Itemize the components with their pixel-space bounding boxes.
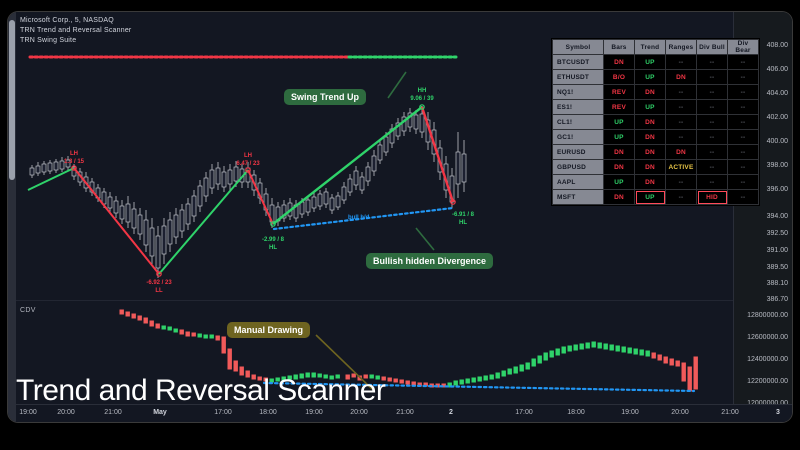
chart-window: Microsoft Corp., 5, NASDAQ TRN Trend and… xyxy=(8,12,792,422)
scanner-header-symbol[interactable]: Symbol xyxy=(553,40,604,55)
time-axis-tick: May xyxy=(153,409,167,416)
scanner-header-row: SymbolBarsTrendRangesDiv BullDiv Bear xyxy=(553,40,759,55)
scanner-cell-ranges[interactable]: DN xyxy=(666,70,697,85)
scanner-cell-ranges[interactable]: -- xyxy=(666,175,697,190)
scanner-cell-div-bull[interactable]: -- xyxy=(697,100,728,115)
scanner-cell-div-bear[interactable]: -- xyxy=(728,55,759,70)
scanner-cell-div-bear[interactable]: -- xyxy=(728,70,759,85)
time-axis-tick: 20:00 xyxy=(57,409,75,416)
scanner-cell-symbol[interactable]: GC1! xyxy=(553,130,604,145)
price-axis-tick: 389.50 xyxy=(767,264,788,271)
scanner-cell-trend[interactable]: DN xyxy=(635,85,666,100)
scanner-cell-div-bull[interactable]: -- xyxy=(697,130,728,145)
trend-reversal-scanner-table[interactable]: SymbolBarsTrendRangesDiv BullDiv Bear BT… xyxy=(551,38,760,206)
callout-swing-trend-up[interactable]: Swing Trend Up xyxy=(284,89,366,105)
price-axis-tick: 12600000.00 xyxy=(747,334,788,341)
scanner-cell-ranges[interactable]: -- xyxy=(666,130,697,145)
price-axis-tick: 12200000.00 xyxy=(747,378,788,385)
scanner-cell-symbol[interactable]: AAPL xyxy=(553,175,604,190)
legend-symbol: Microsoft Corp., 5, NASDAQ xyxy=(20,16,131,26)
price-axis-tick: 402.00 xyxy=(767,114,788,121)
chart-window-inner: Microsoft Corp., 5, NASDAQ TRN Trend and… xyxy=(8,12,792,422)
scanner-cell-symbol[interactable]: EURUSD xyxy=(553,145,604,160)
swing-label-hl-1: -2.99 / 8 HL xyxy=(262,237,284,252)
swing-structure-lines xyxy=(28,107,453,274)
scanner-cell-symbol[interactable]: NQ1! xyxy=(553,85,604,100)
swing-label-value: 6.47 / 23 xyxy=(236,161,259,167)
swing-label-ll: -6.92 / 23 LL xyxy=(146,280,171,295)
callout-manual-drawing[interactable]: Manual Drawing xyxy=(227,322,310,338)
price-axis-tick: 392.50 xyxy=(767,230,788,237)
left-scrollbar[interactable] xyxy=(8,12,16,422)
scanner-header-div-bear[interactable]: Div Bear xyxy=(728,40,759,55)
scanner-cell-div-bull[interactable]: -- xyxy=(697,70,728,85)
scanner-cell-trend[interactable]: DN xyxy=(635,130,666,145)
swing-label-value: 9.06 / 39 xyxy=(410,96,433,102)
swing-label-lh-1: LH 1.3 / 15 xyxy=(64,151,84,166)
swing-label-value: 1.3 / 15 xyxy=(64,159,84,165)
scanner-row[interactable]: ES1!REVUP------ xyxy=(553,100,759,115)
scanner-cell-bars[interactable]: UP xyxy=(604,175,635,190)
swing-label-value: -6.91 / 8 xyxy=(452,212,474,218)
screenshot-root: Microsoft Corp., 5, NASDAQ TRN Trend and… xyxy=(0,0,800,450)
scanner-cell-ranges[interactable]: -- xyxy=(666,190,697,205)
scanner-cell-symbol[interactable]: BTCUSDT xyxy=(553,55,604,70)
scanner-cell-ranges[interactable]: DN xyxy=(666,145,697,160)
price-axis-tick: 406.00 xyxy=(767,66,788,73)
scanner-cell-ranges[interactable]: -- xyxy=(666,100,697,115)
scanner-cell-ranges[interactable]: ACTIVE xyxy=(666,160,697,175)
scanner-cell-trend[interactable]: UP xyxy=(635,55,666,70)
scanner-cell-bars[interactable]: REV xyxy=(604,100,635,115)
scanner-row[interactable]: GBPUSDDNDNACTIVE---- xyxy=(553,160,759,175)
swing-label-type: HL xyxy=(269,245,277,251)
scanner-cell-bars[interactable]: UP xyxy=(604,115,635,130)
time-axis-tick: 20:00 xyxy=(671,409,689,416)
scanner-cell-div-bear[interactable]: -- xyxy=(728,190,759,205)
cdv-pane-label: CDV xyxy=(20,307,36,314)
time-axis-tick: 3 xyxy=(776,409,780,416)
price-axis-tick: 396.00 xyxy=(767,186,788,193)
chart-legend: Microsoft Corp., 5, NASDAQ TRN Trend and… xyxy=(20,16,131,46)
scanner-table: SymbolBarsTrendRangesDiv BullDiv Bear BT… xyxy=(552,39,759,205)
scanner-cell-bars[interactable]: DN xyxy=(604,145,635,160)
time-axis-tick: 17:00 xyxy=(515,409,533,416)
time-axis-tick: 21:00 xyxy=(721,409,739,416)
scanner-cell-trend[interactable]: UP xyxy=(635,100,666,115)
price-axis-tick: 398.00 xyxy=(767,162,788,169)
time-axis-tick: 18:00 xyxy=(259,409,277,416)
scanner-cell-trend[interactable]: DN xyxy=(635,175,666,190)
scanner-cell-trend[interactable]: UP xyxy=(635,190,666,205)
scanner-row[interactable]: AAPLUPDN------ xyxy=(553,175,759,190)
scanner-cell-div-bull[interactable]: -- xyxy=(697,115,728,130)
scanner-header-ranges[interactable]: Ranges xyxy=(666,40,697,55)
scanner-header-trend[interactable]: Trend xyxy=(635,40,666,55)
scanner-cell-div-bear[interactable]: -- xyxy=(728,160,759,175)
swing-label-value: -2.99 / 8 xyxy=(262,237,284,243)
time-axis-tick: 21:00 xyxy=(396,409,414,416)
scanner-cell-div-bear[interactable]: -- xyxy=(728,115,759,130)
scanner-row[interactable]: ETHUSDTB/OUPDN---- xyxy=(553,70,759,85)
swing-label-type: LL xyxy=(155,288,162,294)
scanner-cell-div-bull[interactable]: -- xyxy=(697,175,728,190)
scanner-cell-div-bull[interactable]: -- xyxy=(697,55,728,70)
scanner-cell-ranges[interactable]: -- xyxy=(666,85,697,100)
scanner-cell-div-bear[interactable]: -- xyxy=(728,175,759,190)
scanner-body: BTCUSDTDNUP------ETHUSDTB/OUPDN----NQ1!R… xyxy=(553,55,759,205)
scanner-cell-div-bull[interactable]: HID xyxy=(697,190,728,205)
price-axis-tick: 386.70 xyxy=(767,296,788,303)
scanner-cell-trend[interactable]: DN xyxy=(635,115,666,130)
scanner-row[interactable]: GC1!UPDN------ xyxy=(553,130,759,145)
scanner-cell-div-bull[interactable]: -- xyxy=(697,85,728,100)
time-axis-tick: 21:00 xyxy=(104,409,122,416)
scanner-cell-div-bull[interactable]: -- xyxy=(697,145,728,160)
swing-label-type: HL xyxy=(459,220,467,226)
scanner-cell-bars[interactable]: B/O xyxy=(604,70,635,85)
scanner-cell-bars[interactable]: UP xyxy=(604,130,635,145)
swing-label-value: -6.92 / 23 xyxy=(146,280,171,286)
time-axis-tick: 2 xyxy=(449,409,453,416)
time-axis-tick: 19:00 xyxy=(621,409,639,416)
scanner-cell-div-bull[interactable]: -- xyxy=(697,160,728,175)
time-axis-tick: 19:00 xyxy=(305,409,323,416)
swing-label-type: HH xyxy=(418,88,427,94)
swing-label-hh: HH 9.06 / 39 xyxy=(410,88,433,103)
scanner-row[interactable]: NQ1!REVDN------ xyxy=(553,85,759,100)
price-axis-tick: 388.10 xyxy=(767,280,788,287)
scanner-row[interactable]: MSFTDNUP--HID-- xyxy=(553,190,759,205)
watermark-title: Trend and Reversal Scanner xyxy=(16,374,385,408)
time-axis-tick: 18:00 xyxy=(567,409,585,416)
scanner-cell-symbol[interactable]: ES1! xyxy=(553,100,604,115)
legend-indicator-2: TRN Swing Suite xyxy=(20,36,131,46)
scanner-cell-ranges[interactable]: -- xyxy=(666,115,697,130)
scanner-cell-bars[interactable]: DN xyxy=(604,55,635,70)
scanner-row[interactable]: BTCUSDTDNUP------ xyxy=(553,55,759,70)
scanner-cell-bars[interactable]: DN xyxy=(604,190,635,205)
price-axis-tick: 394.00 xyxy=(767,213,788,220)
price-axis-tick: 12400000.00 xyxy=(747,356,788,363)
scanner-cell-div-bear[interactable]: -- xyxy=(728,100,759,115)
scanner-cell-symbol[interactable]: GBPUSD xyxy=(553,160,604,175)
left-scrollbar-thumb[interactable] xyxy=(9,20,15,180)
time-axis-tick: 19:00 xyxy=(19,409,37,416)
divergence-line-label: bull h/d xyxy=(348,215,369,221)
scanner-header-bars[interactable]: Bars xyxy=(604,40,635,55)
price-axis-tick: 408.00 xyxy=(767,42,788,49)
scanner-header-div-bull[interactable]: Div Bull xyxy=(697,40,728,55)
legend-indicator-1: TRN Trend and Reversal Scanner xyxy=(20,26,131,36)
scanner-cell-bars[interactable]: DN xyxy=(604,160,635,175)
time-axis-tick: 20:00 xyxy=(350,409,368,416)
scanner-cell-symbol[interactable]: MSFT xyxy=(553,190,604,205)
price-axis-tick: 404.00 xyxy=(767,90,788,97)
scanner-row[interactable]: CL1!UPDN------ xyxy=(553,115,759,130)
swing-label-type: LH xyxy=(70,151,78,157)
scanner-cell-ranges[interactable]: -- xyxy=(666,55,697,70)
scanner-cell-trend[interactable]: DN xyxy=(635,160,666,175)
time-axis-tick: 17:00 xyxy=(214,409,232,416)
scanner-cell-symbol[interactable]: ETHUSDT xyxy=(553,70,604,85)
scanner-row[interactable]: EURUSDDNDNDN---- xyxy=(553,145,759,160)
scanner-cell-trend[interactable]: UP xyxy=(635,70,666,85)
scanner-cell-div-bear[interactable]: -- xyxy=(728,145,759,160)
swing-label-lh-2: LH 6.47 / 23 xyxy=(236,153,259,168)
scanner-cell-symbol[interactable]: CL1! xyxy=(553,115,604,130)
swing-label-hl-2: -6.91 / 8 HL xyxy=(452,212,474,227)
scanner-cell-div-bear[interactable]: -- xyxy=(728,85,759,100)
callout-bullish-hidden-divergence[interactable]: Bullish hidden Divergence xyxy=(366,253,493,269)
price-axis-tick: 391.00 xyxy=(767,247,788,254)
scanner-cell-bars[interactable]: REV xyxy=(604,85,635,100)
price-axis-tick: 12800000.00 xyxy=(747,312,788,319)
swing-label-type: LH xyxy=(244,153,252,159)
scanner-cell-trend[interactable]: DN xyxy=(635,145,666,160)
price-axis-tick: 400.00 xyxy=(767,138,788,145)
scanner-cell-div-bear[interactable]: -- xyxy=(728,130,759,145)
